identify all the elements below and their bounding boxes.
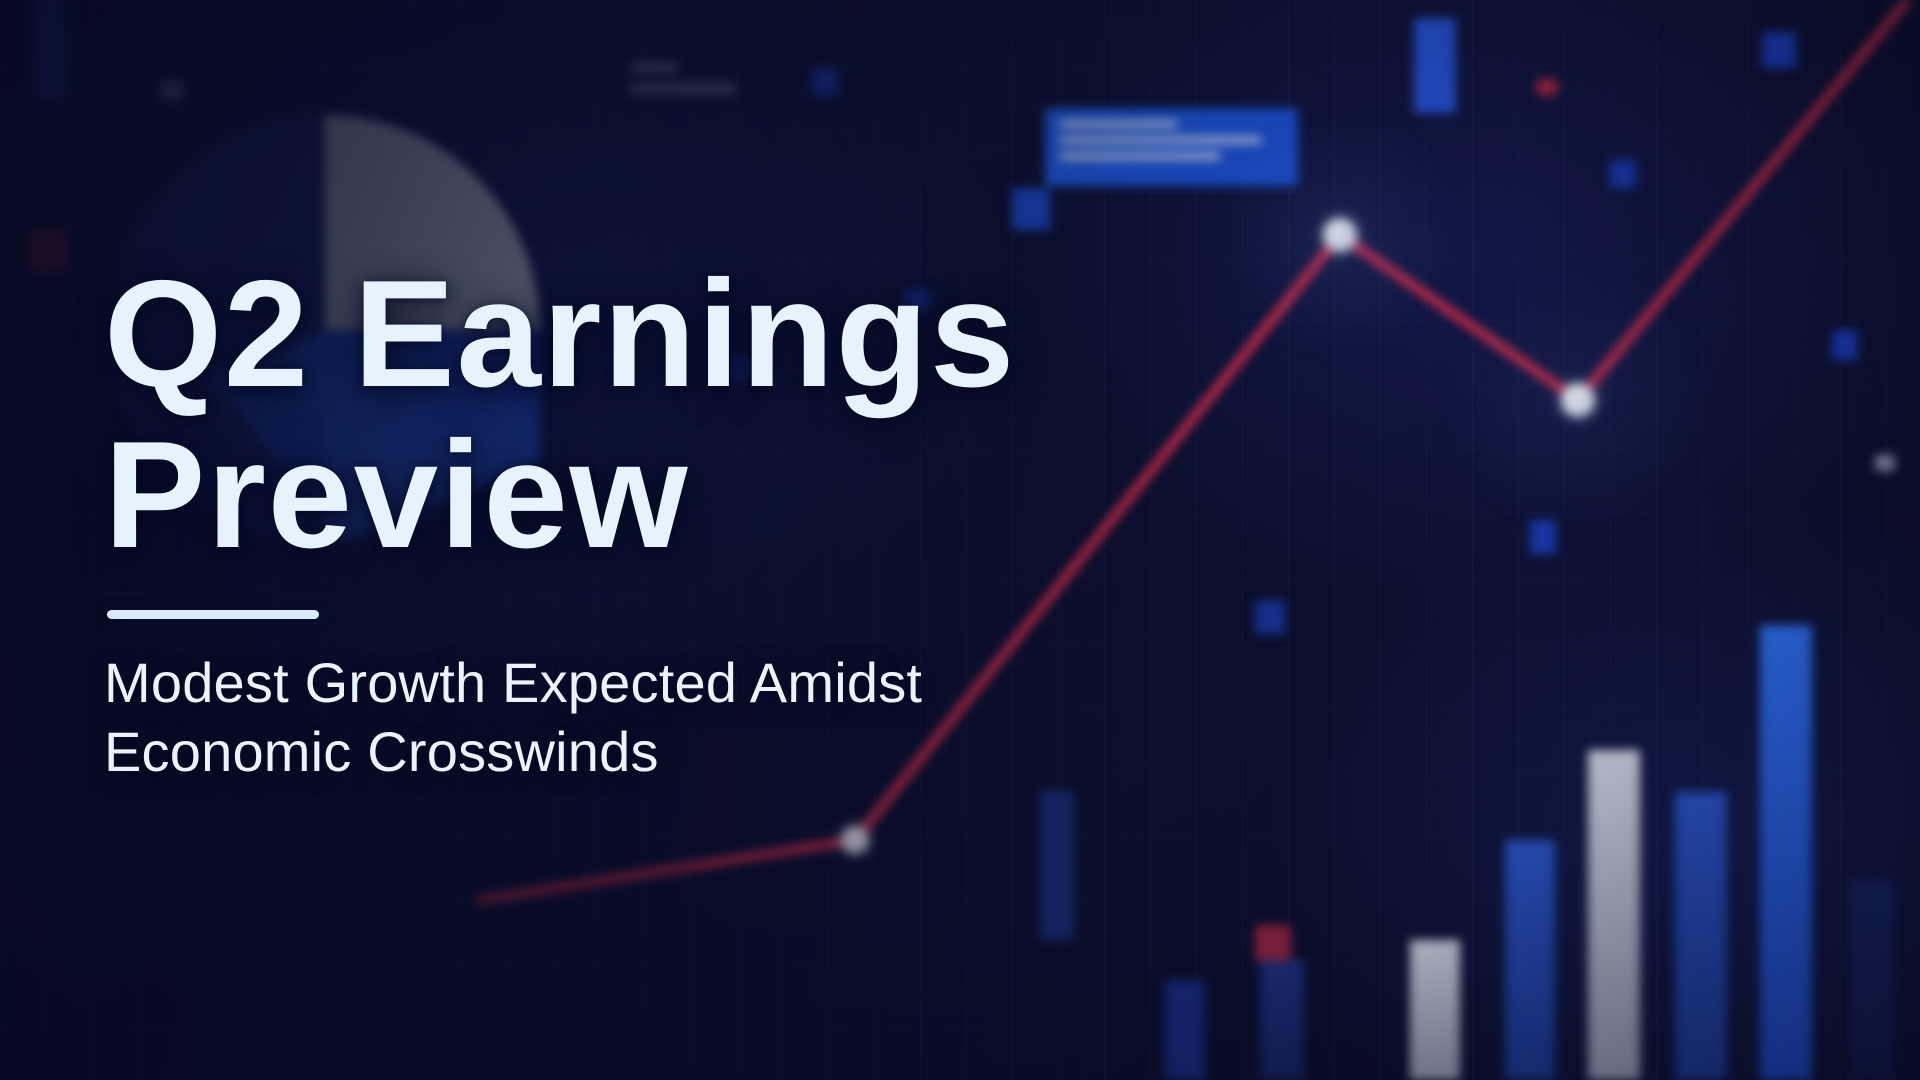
page-subtitle-line-2: Economic Crosswinds <box>104 720 659 783</box>
page-title-line-2: Preview <box>104 410 689 580</box>
page-subtitle: Modest Growth Expected AmidstEconomic Cr… <box>104 649 1284 786</box>
title-divider <box>107 610 319 619</box>
hero-content: Q2 EarningsPreview Modest Growth Expecte… <box>104 0 1354 1080</box>
page-title-line-1: Q2 Earnings <box>104 249 1016 419</box>
hero-banner: Q2 EarningsPreview Modest Growth Expecte… <box>0 0 1920 1080</box>
page-title: Q2 EarningsPreview <box>104 254 1284 576</box>
page-subtitle-line-1: Modest Growth Expected Amidst <box>104 651 922 714</box>
